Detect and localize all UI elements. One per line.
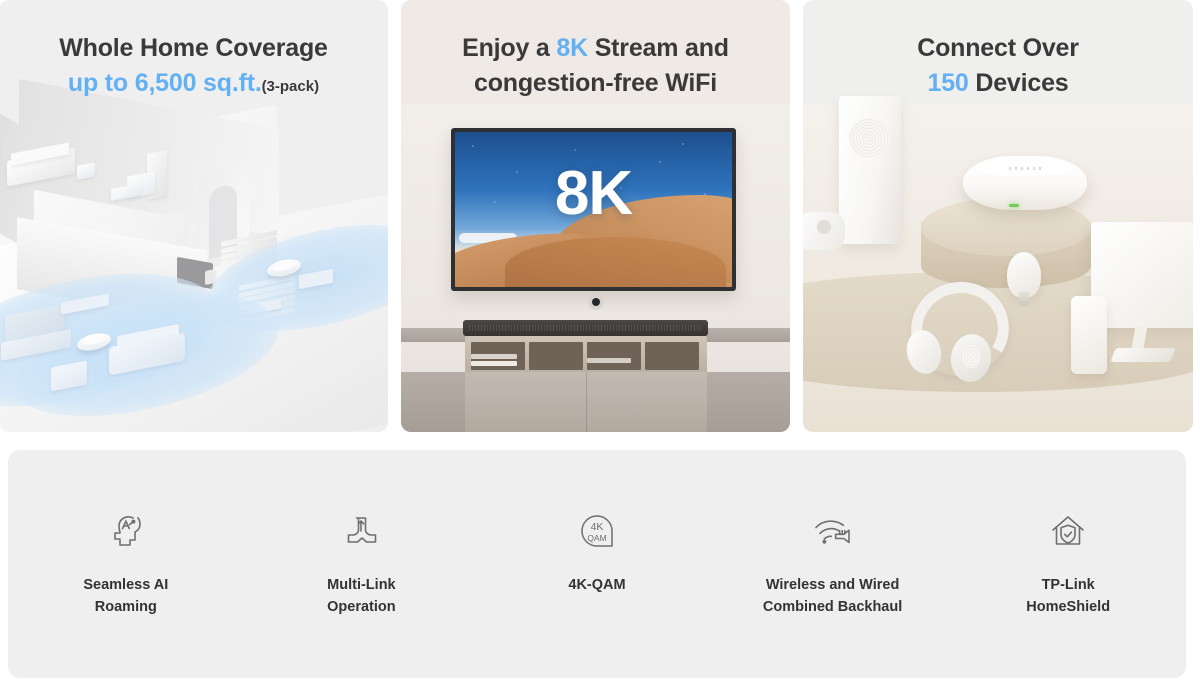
feature-label-line2: Roaming bbox=[26, 596, 226, 618]
av-device bbox=[471, 354, 517, 359]
soundbar bbox=[463, 320, 708, 336]
feature-label-line1: Wireless and Wired bbox=[733, 574, 933, 596]
feature-highlights-bar: Seamless AI Roaming Multi-Link Operation… bbox=[8, 450, 1186, 678]
av-device bbox=[587, 358, 631, 363]
tv-screen-8k-text: 8K bbox=[455, 158, 732, 229]
card-connect-devices[interactable]: Connect Over 150 Devices bbox=[803, 0, 1193, 432]
wifi-ethernet-icon bbox=[733, 506, 933, 556]
smart-bulb-base bbox=[1019, 292, 1029, 306]
console-bay bbox=[587, 342, 641, 370]
card-1-pack-note: (3-pack) bbox=[262, 78, 320, 95]
card-1-highlight: up to 6,500 sq.ft. bbox=[68, 69, 262, 97]
feature-tp-link-homeshield[interactable]: TP-Link HomeShield bbox=[968, 506, 1168, 618]
card-2-headline-post: Stream and bbox=[588, 34, 729, 62]
feature-label-line1: TP-Link bbox=[968, 574, 1168, 596]
feature-4k-qam[interactable]: 4K QAM 4K-QAM bbox=[497, 506, 697, 596]
tv-screen: 8K bbox=[455, 132, 732, 287]
tv-illustration: 8K bbox=[401, 104, 790, 432]
feature-label: Wireless and Wired Combined Backhaul bbox=[733, 574, 933, 618]
promo-page: Whole Home Coverage up to 6,500 sq.ft.(3… bbox=[0, 0, 1200, 690]
card-2-headline-pre: Enjoy a bbox=[462, 34, 556, 62]
home-coverage-illustration bbox=[0, 112, 388, 432]
feature-label-line1: 4K-QAM bbox=[497, 574, 697, 596]
mesh-router bbox=[963, 156, 1087, 210]
feature-label-line2: Operation bbox=[261, 596, 461, 618]
home-shield-icon bbox=[968, 506, 1168, 556]
qam-icon-top-text: 4K bbox=[591, 521, 604, 533]
feature-label: Multi-Link Operation bbox=[261, 574, 461, 618]
monitor-base bbox=[1110, 348, 1176, 362]
feature-label-line1: Seamless AI bbox=[26, 574, 226, 596]
card-whole-home-coverage[interactable]: Whole Home Coverage up to 6,500 sq.ft.(3… bbox=[0, 0, 388, 432]
console-bay bbox=[645, 342, 699, 370]
feature-label-line2: HomeShield bbox=[968, 596, 1168, 618]
card-8k-stream[interactable]: Enjoy a 8K Stream and congestion-free Wi… bbox=[401, 0, 790, 432]
router-vent-dots bbox=[1009, 167, 1043, 170]
card-2-highlight: 8K bbox=[556, 34, 588, 62]
smartphone bbox=[1071, 296, 1107, 374]
card-1-headline-line1: Whole Home Coverage bbox=[0, 32, 388, 65]
router-status-led bbox=[1009, 204, 1019, 207]
card-1-headline-line2: up to 6,500 sq.ft.(3-pack) bbox=[0, 67, 388, 103]
feature-label: TP-Link HomeShield bbox=[968, 574, 1168, 618]
card-3-heading: Connect Over 150 Devices bbox=[803, 0, 1193, 100]
devices-illustration bbox=[803, 104, 1193, 432]
feature-combined-backhaul[interactable]: Wireless and Wired Combined Backhaul bbox=[733, 506, 933, 618]
game-controller bbox=[803, 212, 845, 250]
card-2-headline-line2: congestion-free WiFi bbox=[401, 67, 790, 100]
qam-4k-icon: 4K QAM bbox=[497, 506, 697, 556]
console-bay bbox=[529, 342, 583, 370]
feature-seamless-ai-roaming[interactable]: Seamless AI Roaming bbox=[26, 506, 226, 618]
card-2-headline-line1: Enjoy a 8K Stream and bbox=[401, 32, 790, 65]
tv-camera bbox=[588, 294, 604, 310]
feature-card-row: Whole Home Coverage up to 6,500 sq.ft.(3… bbox=[0, 0, 1200, 432]
card-3-headline-line2: 150 Devices bbox=[803, 67, 1193, 100]
feature-label: 4K-QAM bbox=[497, 574, 697, 596]
card-3-headline-post: Devices bbox=[969, 69, 1069, 97]
feature-label-line2: Combined Backhaul bbox=[733, 596, 933, 618]
card-2-heading: Enjoy a 8K Stream and congestion-free Wi… bbox=[401, 0, 790, 100]
qam-icon-bottom-text: QAM bbox=[587, 533, 606, 543]
game-console bbox=[839, 96, 901, 244]
av-device bbox=[471, 361, 517, 366]
feature-multi-link-operation[interactable]: Multi-Link Operation bbox=[261, 506, 461, 618]
console-cabinet bbox=[401, 372, 790, 432]
card-3-highlight: 150 bbox=[928, 69, 969, 97]
television: 8K bbox=[451, 128, 736, 291]
multi-link-icon bbox=[261, 506, 461, 556]
card-1-heading: Whole Home Coverage up to 6,500 sq.ft.(3… bbox=[0, 0, 388, 103]
cabinet-seam bbox=[586, 372, 587, 432]
feature-label-line1: Multi-Link bbox=[261, 574, 461, 596]
card-3-headline-line1: Connect Over bbox=[803, 32, 1193, 65]
ai-head-icon bbox=[26, 506, 226, 556]
feature-label: Seamless AI Roaming bbox=[26, 574, 226, 618]
